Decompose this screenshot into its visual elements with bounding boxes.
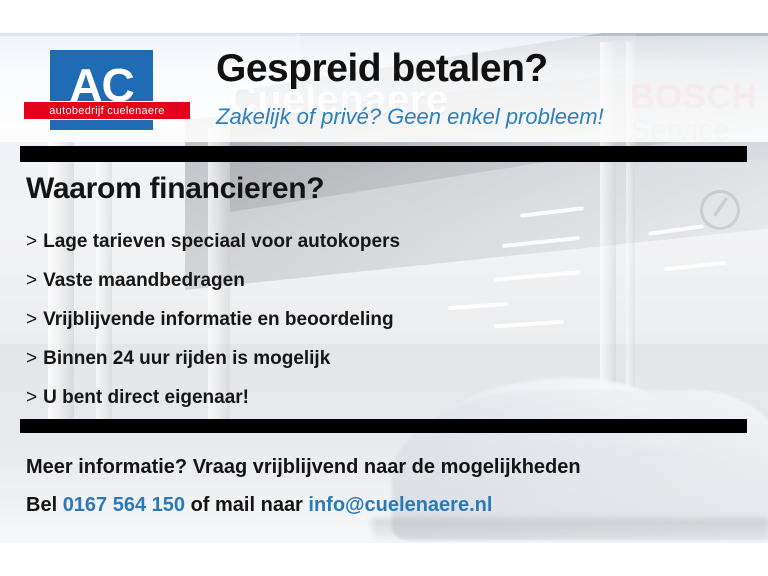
- list-item-label: Vrijblijvende informatie en beoordeling: [43, 309, 394, 330]
- call-prefix-label: Bel: [26, 494, 63, 516]
- logo-tagline: autobedrijf cuelenaere: [49, 105, 164, 117]
- list-item: >Vaste maandbedragen: [26, 261, 666, 300]
- chevron-right-icon: >: [26, 378, 37, 417]
- chevron-right-icon: >: [26, 339, 37, 378]
- photo-ceiling-light: [664, 261, 726, 271]
- top-white-margin: [0, 0, 768, 33]
- chevron-right-icon: >: [26, 222, 37, 261]
- footer-info-line: Meer informatie? Vraag vrijblijvend naar…: [26, 456, 581, 479]
- chevron-right-icon: >: [26, 300, 37, 339]
- phone-number-link[interactable]: 0167 564 150: [63, 494, 185, 516]
- list-item: >U bent direct eigenaar!: [26, 378, 666, 417]
- section-title: Waarom financieren?: [26, 172, 324, 206]
- bosch-emblem-icon: [700, 190, 740, 230]
- list-item-label: Lage tarieven speciaal voor autokopers: [43, 231, 400, 252]
- list-item-label: Binnen 24 uur rijden is mogelijk: [43, 348, 330, 369]
- divider-top: [20, 146, 747, 162]
- page-title: Gespreid betalen?: [216, 47, 548, 91]
- finance-promo-banner: BOSCH Service Cuelenaere AC autobedrijf …: [0, 0, 768, 576]
- list-item: >Lage tarieven speciaal voor autokopers: [26, 222, 666, 261]
- bottom-white-margin: [0, 543, 768, 576]
- mail-middle-label: of mail naar: [185, 494, 308, 516]
- list-item: >Binnen 24 uur rijden is mogelijk: [26, 339, 666, 378]
- page-subtitle: Zakelijk of privé? Geen enkel probleem!: [216, 104, 604, 130]
- list-item-label: U bent direct eigenaar!: [43, 387, 249, 408]
- benefits-list: >Lage tarieven speciaal voor autokopers>…: [26, 222, 666, 417]
- chevron-right-icon: >: [26, 261, 37, 300]
- list-item: >Vrijblijvende informatie en beoordeling: [26, 300, 666, 339]
- footer-contact-line: Bel 0167 564 150 of mail naar info@cuele…: [26, 494, 492, 517]
- company-logo[interactable]: AC autobedrijf cuelenaere: [23, 50, 193, 132]
- divider-bottom: [20, 419, 747, 433]
- list-item-label: Vaste maandbedragen: [43, 270, 245, 291]
- email-address-link[interactable]: info@cuelenaere.nl: [308, 494, 492, 516]
- photo-car-shadow: [372, 518, 768, 544]
- logo-red-ribbon: autobedrijf cuelenaere: [23, 101, 191, 120]
